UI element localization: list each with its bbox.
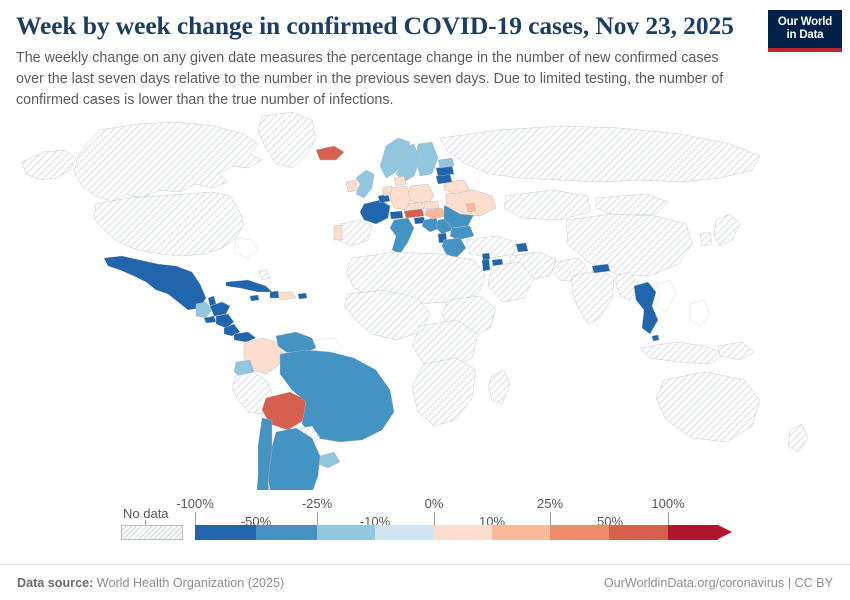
- legend-tick-label-100: 100%: [651, 496, 684, 511]
- country-vietnam-laos-cambodia[interactable]: [656, 280, 676, 312]
- country-switzerland[interactable]: [390, 211, 403, 219]
- country-turkey[interactable]: [466, 236, 516, 258]
- country-iceland[interactable]: [316, 146, 344, 160]
- attribution-link[interactable]: OurWorldinData.org/coronavirus | CC BY: [604, 576, 833, 590]
- legend-bin-neg10-zero[interactable]: [375, 525, 434, 540]
- legend-no-data-label: No data: [123, 506, 169, 521]
- legend-no-data-swatch[interactable]: [121, 525, 183, 540]
- country-finland[interactable]: [416, 142, 438, 176]
- country-australia[interactable]: [656, 372, 760, 442]
- data-source-label: Data source:: [17, 576, 93, 590]
- country-greenland[interactable]: [258, 112, 316, 168]
- country-cuba[interactable]: [226, 280, 272, 292]
- country-hungary[interactable]: [425, 208, 446, 219]
- chart-subtitle: The weekly change on any given date meas…: [16, 48, 742, 111]
- legend-tick-line-neg25: [317, 512, 318, 525]
- legend-bin-zero-10[interactable]: [434, 525, 492, 540]
- country-nepal[interactable]: [592, 264, 610, 273]
- country-philippines[interactable]: [690, 300, 710, 326]
- legend-tick-label-neg100: -100%: [176, 496, 214, 511]
- country-thailand[interactable]: [634, 282, 658, 334]
- country-korea[interactable]: [700, 232, 712, 246]
- country-poland[interactable]: [408, 184, 434, 204]
- chart-header: Week by week change in confirmed COVID-1…: [0, 0, 850, 111]
- country-france[interactable]: [360, 200, 390, 224]
- country-mexico[interactable]: [104, 256, 206, 310]
- country-united-kingdom[interactable]: [356, 170, 374, 198]
- country-denmark[interactable]: [394, 176, 406, 186]
- legend-bin-50-100[interactable]: [609, 525, 668, 540]
- region-south-america: [232, 332, 394, 490]
- legend-tick-line-no-data: [145, 520, 146, 525]
- data-source: Data source: World Health Organization (…: [17, 576, 284, 590]
- country-spain[interactable]: [338, 220, 372, 246]
- legend-tick-label-zero: 0%: [425, 496, 444, 511]
- legend-bin-10-25[interactable]: [492, 525, 550, 540]
- owid-logo-line2: in Data: [787, 29, 824, 42]
- country-russia[interactable]: [440, 126, 760, 182]
- owid-logo-line1: Our World: [778, 16, 832, 29]
- country-puerto-rico[interactable]: [298, 293, 307, 299]
- legend-bin-neg50-neg25[interactable]: [256, 525, 317, 540]
- country-ireland[interactable]: [346, 180, 358, 192]
- legend-tick-line-100: [668, 512, 669, 525]
- chart-footer: Data source: World Health Organization (…: [0, 564, 850, 600]
- country-italy[interactable]: [390, 218, 414, 254]
- country-jamaica[interactable]: [250, 295, 259, 301]
- country-papua-new-guinea[interactable]: [718, 342, 754, 360]
- country-portugal[interactable]: [334, 225, 342, 240]
- ocean-backdrop-na: [234, 238, 258, 258]
- legend-tick-line-25: [550, 512, 551, 525]
- country-bahamas[interactable]: [258, 270, 270, 280]
- country-dominican-republic[interactable]: [276, 292, 296, 300]
- country-slovakia[interactable]: [424, 201, 439, 209]
- owid-logo-accent-bar: [768, 48, 842, 52]
- chart-root: Week by week change in confirmed COVID-1…: [0, 0, 850, 600]
- map-svg: [0, 108, 850, 490]
- page-title: Week by week change in confirmed COVID-1…: [16, 12, 756, 41]
- country-lebanon[interactable]: [482, 253, 490, 260]
- legend-bin-over-100[interactable]: [668, 525, 718, 540]
- country-japan[interactable]: [714, 214, 740, 246]
- country-southern-africa[interactable]: [412, 358, 476, 426]
- legend-tick-line-zero: [434, 512, 435, 525]
- country-india[interactable]: [572, 270, 614, 324]
- legend-color-bins: [195, 525, 732, 540]
- legend-overflow-arrow-icon: [718, 525, 732, 539]
- legend-tick-label-25: 25%: [537, 496, 563, 511]
- legend-bin-25-50[interactable]: [550, 525, 609, 540]
- country-united-states[interactable]: [94, 192, 244, 256]
- legend-tick-line-neg100: [195, 512, 196, 525]
- country-canada[interactable]: [74, 122, 262, 202]
- country-moldova[interactable]: [466, 203, 476, 212]
- country-latvia[interactable]: [436, 166, 454, 176]
- legend-bin-neg100-neg50[interactable]: [195, 525, 256, 540]
- country-azerbaijan[interactable]: [516, 243, 528, 252]
- country-singapore[interactable]: [652, 335, 659, 341]
- country-uruguay[interactable]: [318, 452, 340, 468]
- country-mongolia[interactable]: [596, 194, 668, 216]
- country-alaska[interactable]: [22, 150, 76, 180]
- country-estonia[interactable]: [438, 158, 454, 168]
- country-kazakhstan[interactable]: [504, 190, 590, 220]
- country-austria[interactable]: [404, 209, 424, 218]
- map-legend: No data -100% -25% 0% 25% 100% -50% -10%…: [0, 492, 850, 554]
- world-choropleth-map[interactable]: [0, 108, 850, 490]
- data-source-value: World Health Organization (2025): [97, 576, 284, 590]
- legend-bin-neg25-neg10[interactable]: [317, 525, 375, 540]
- country-bulgaria[interactable]: [450, 226, 474, 240]
- country-israel[interactable]: [482, 259, 490, 271]
- region-central-america: [104, 256, 307, 342]
- country-madagascar[interactable]: [488, 370, 510, 404]
- owid-logo[interactable]: Our World in Data: [768, 10, 842, 52]
- legend-tick-label-neg25: -25%: [302, 496, 332, 511]
- country-new-zealand[interactable]: [788, 424, 808, 452]
- country-haiti[interactable]: [270, 291, 279, 298]
- country-panama[interactable]: [234, 332, 256, 342]
- country-indonesia[interactable]: [640, 342, 724, 364]
- region-north-america: [22, 112, 316, 258]
